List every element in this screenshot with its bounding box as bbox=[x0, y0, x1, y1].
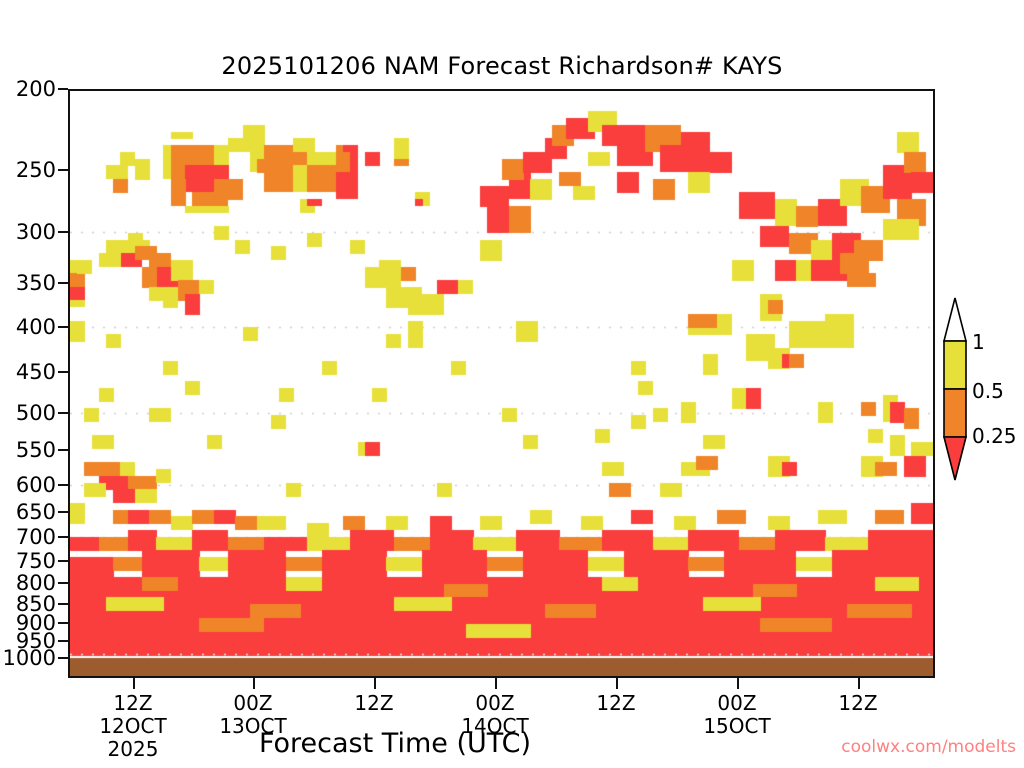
x-tick-mark bbox=[133, 678, 135, 689]
colorbar-svg bbox=[941, 296, 969, 482]
y-tick-mark bbox=[58, 536, 68, 538]
colorbar-bar bbox=[941, 296, 969, 482]
y-tick-mark bbox=[58, 169, 68, 171]
richardson-number-heatmap bbox=[70, 91, 933, 676]
y-tick-mark bbox=[58, 326, 68, 328]
y-tick-mark bbox=[58, 231, 68, 233]
y-tick-mark bbox=[58, 88, 68, 90]
x-tick-label-line: 12Z bbox=[354, 692, 393, 715]
y-tick-label-450: 450 bbox=[16, 360, 56, 384]
y-tick-label-700: 700 bbox=[16, 525, 56, 549]
chart-root: 2025101206 NAM Forecast Richardson# KAYS… bbox=[0, 0, 1024, 768]
colorbar-tick-label-1: 1 bbox=[972, 330, 985, 354]
y-tick-mark bbox=[58, 640, 68, 642]
y-tick-label-950: 950 bbox=[16, 629, 56, 653]
y-tick-label-550: 550 bbox=[16, 438, 56, 462]
y-tick-mark bbox=[58, 657, 68, 659]
y-tick-mark bbox=[58, 371, 68, 373]
y-axis: 2002503003504004505005506006507007508008… bbox=[0, 0, 68, 768]
y-tick-mark bbox=[58, 484, 68, 486]
y-tick-label-600: 600 bbox=[16, 473, 56, 497]
y-tick-mark bbox=[58, 560, 68, 562]
x-tick-label-line bbox=[838, 715, 877, 738]
plot-area bbox=[68, 89, 935, 678]
y-tick-label-900: 900 bbox=[16, 611, 56, 635]
x-tick-mark bbox=[495, 678, 497, 689]
x-tick-label-line: 12Z bbox=[596, 692, 635, 715]
x-tick-label-line: 00Z bbox=[219, 692, 286, 715]
x-tick-mark bbox=[616, 678, 618, 689]
y-tick-label-200: 200 bbox=[16, 77, 56, 101]
y-tick-label-350: 350 bbox=[16, 271, 56, 295]
y-tick-mark bbox=[58, 622, 68, 624]
x-tick-label-line: 12Z bbox=[99, 692, 166, 715]
page-title: 2025101206 NAM Forecast Richardson# KAYS bbox=[0, 52, 1004, 80]
x-axis-title: Forecast Time (UTC) bbox=[0, 728, 790, 759]
x-tick-mark bbox=[374, 678, 376, 689]
y-tick-mark bbox=[58, 511, 68, 513]
colorbar-tick-label-0_5: 0.5 bbox=[972, 379, 1004, 403]
y-tick-label-800: 800 bbox=[16, 571, 56, 595]
x-tick-mark bbox=[737, 678, 739, 689]
x-tick-label-line: 00Z bbox=[703, 692, 770, 715]
y-tick-mark bbox=[58, 282, 68, 284]
y-tick-label-250: 250 bbox=[16, 158, 56, 182]
y-tick-mark bbox=[58, 412, 68, 414]
y-tick-label-400: 400 bbox=[16, 315, 56, 339]
x-tick-mark bbox=[858, 678, 860, 689]
x-tick-mark bbox=[253, 678, 255, 689]
colorbar-tick-label-0_25: 0.25 bbox=[972, 424, 1017, 448]
y-tick-label-500: 500 bbox=[16, 401, 56, 425]
watermark: coolwx.com/modelts bbox=[841, 737, 1016, 757]
y-tick-mark bbox=[58, 603, 68, 605]
y-tick-label-300: 300 bbox=[16, 220, 56, 244]
colorbar-legend: 10.50.25 bbox=[941, 296, 1024, 482]
x-tick-label-line: 00Z bbox=[461, 692, 528, 715]
y-tick-mark bbox=[58, 582, 68, 584]
y-tick-label-850: 850 bbox=[16, 592, 56, 616]
y-tick-label-1000: 1000 bbox=[3, 646, 56, 670]
x-tick-label-line: 12Z bbox=[838, 692, 877, 715]
y-tick-mark bbox=[58, 449, 68, 451]
y-tick-label-750: 750 bbox=[16, 549, 56, 573]
y-tick-label-650: 650 bbox=[16, 500, 56, 524]
